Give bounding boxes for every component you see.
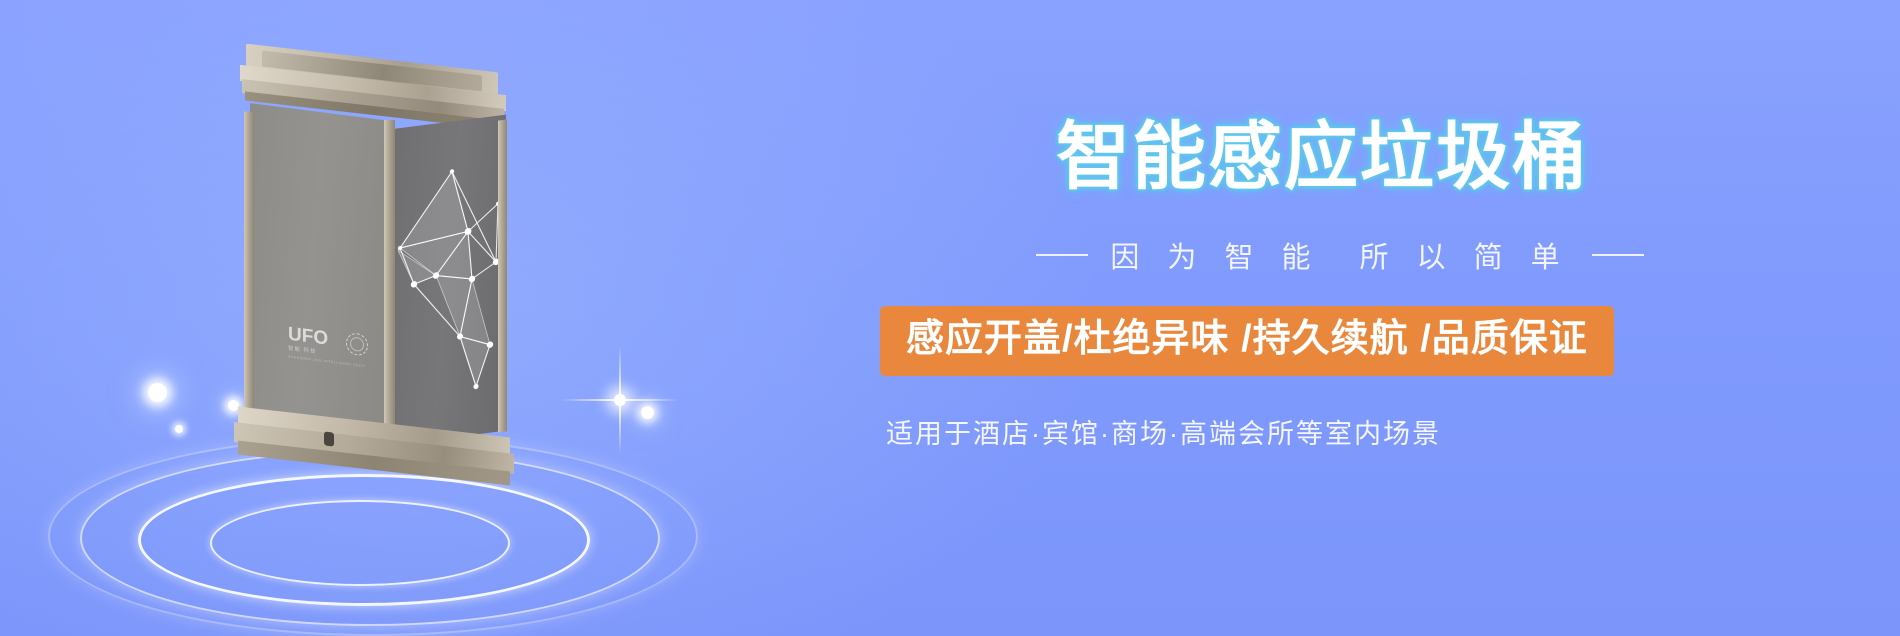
banner-headline: 智能感应垃圾桶	[1056, 120, 1760, 194]
bin-face-right	[390, 115, 506, 446]
banner-subline: 因 为 智 能 所 以 简 单	[880, 234, 1760, 276]
bin-face-left	[250, 103, 390, 437]
subline-text: 因 为 智 能 所 以 简 单	[1110, 234, 1569, 276]
banner-copy: 智能感应垃圾桶 因 为 智 能 所 以 简 单 感应开盖/杜绝异味 /持久续航 …	[880, 120, 1760, 451]
subline-rule-right	[1592, 254, 1644, 256]
glow-dot-icon	[175, 425, 183, 433]
subline-rule-left	[1036, 254, 1088, 256]
banner-tagline: 适用于酒店·宾馆·商场·高端会所等室内场景	[880, 412, 1760, 451]
product-stage: UFO 智能 科技 SHENZHEN UFO INTELLIGENT TECH	[0, 0, 760, 636]
bin-pillar-right	[498, 119, 507, 432]
glow-dot-icon	[148, 383, 167, 402]
bin-pillar-mid	[384, 120, 395, 442]
feature-badge: 感应开盖/杜绝异味 /持久续航 /品质保证	[880, 306, 1614, 376]
promo-banner: UFO 智能 科技 SHENZHEN UFO INTELLIGENT TECH …	[0, 0, 1900, 636]
product-image-trash-bin: UFO 智能 科技 SHENZHEN UFO INTELLIGENT TECH	[232, 58, 522, 478]
low-poly-network-graphic	[390, 115, 506, 446]
bin-sensor-slot	[324, 431, 334, 446]
bin-pillar-left	[244, 111, 254, 432]
sparkle-star-icon	[560, 340, 680, 460]
